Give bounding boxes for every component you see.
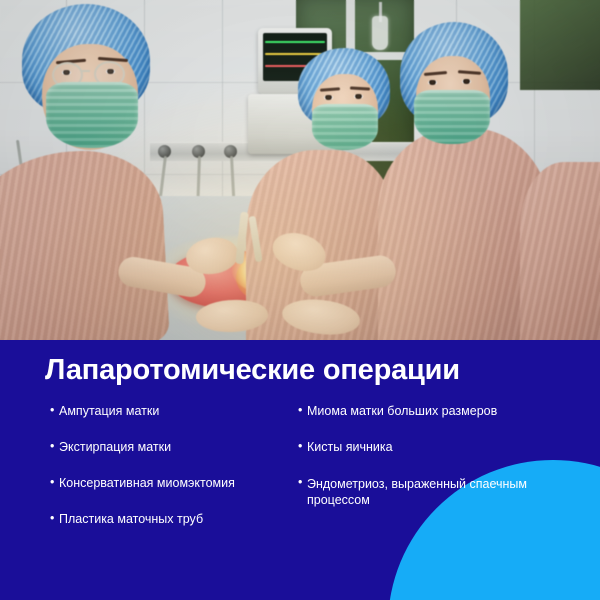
gown-surgeon-left bbox=[0, 147, 170, 340]
surgical-mask-right bbox=[414, 90, 490, 144]
eye-center-2 bbox=[354, 94, 363, 99]
bullet-column-left: Ампутация матки Экстирпация матки Консер… bbox=[50, 404, 290, 548]
list-item: Экстирпация матки bbox=[50, 440, 290, 455]
operating-room-photo bbox=[0, 0, 600, 340]
bullet-column-right: Миома матки больших размеров Кисты яични… bbox=[298, 404, 548, 529]
list-item: Ампутация матки bbox=[50, 404, 290, 419]
surgical-mask-center bbox=[312, 104, 378, 150]
gown-far-right bbox=[520, 162, 600, 340]
greenery-patch-topright bbox=[520, 0, 600, 90]
slide-root: Лапаротомические операции Ампутация матк… bbox=[0, 0, 600, 600]
eye-right-1 bbox=[428, 80, 437, 85]
eyeglasses-bridge bbox=[81, 70, 90, 72]
eye-right-2 bbox=[462, 79, 471, 84]
list-item: Эндометриоз, выраженный спаечным процесс… bbox=[298, 476, 548, 508]
list-item: Консервативная миомэктомия bbox=[50, 476, 290, 491]
list-item: Пластика маточных труб bbox=[50, 512, 290, 527]
eye-center-1 bbox=[324, 95, 333, 100]
surgical-mask-left bbox=[46, 82, 138, 148]
page-title: Лапаротомические операции bbox=[45, 353, 460, 387]
list-item: Миома матки больших размеров bbox=[298, 404, 548, 419]
list-item: Кисты яичника bbox=[298, 440, 548, 455]
iv-bag bbox=[372, 16, 388, 50]
